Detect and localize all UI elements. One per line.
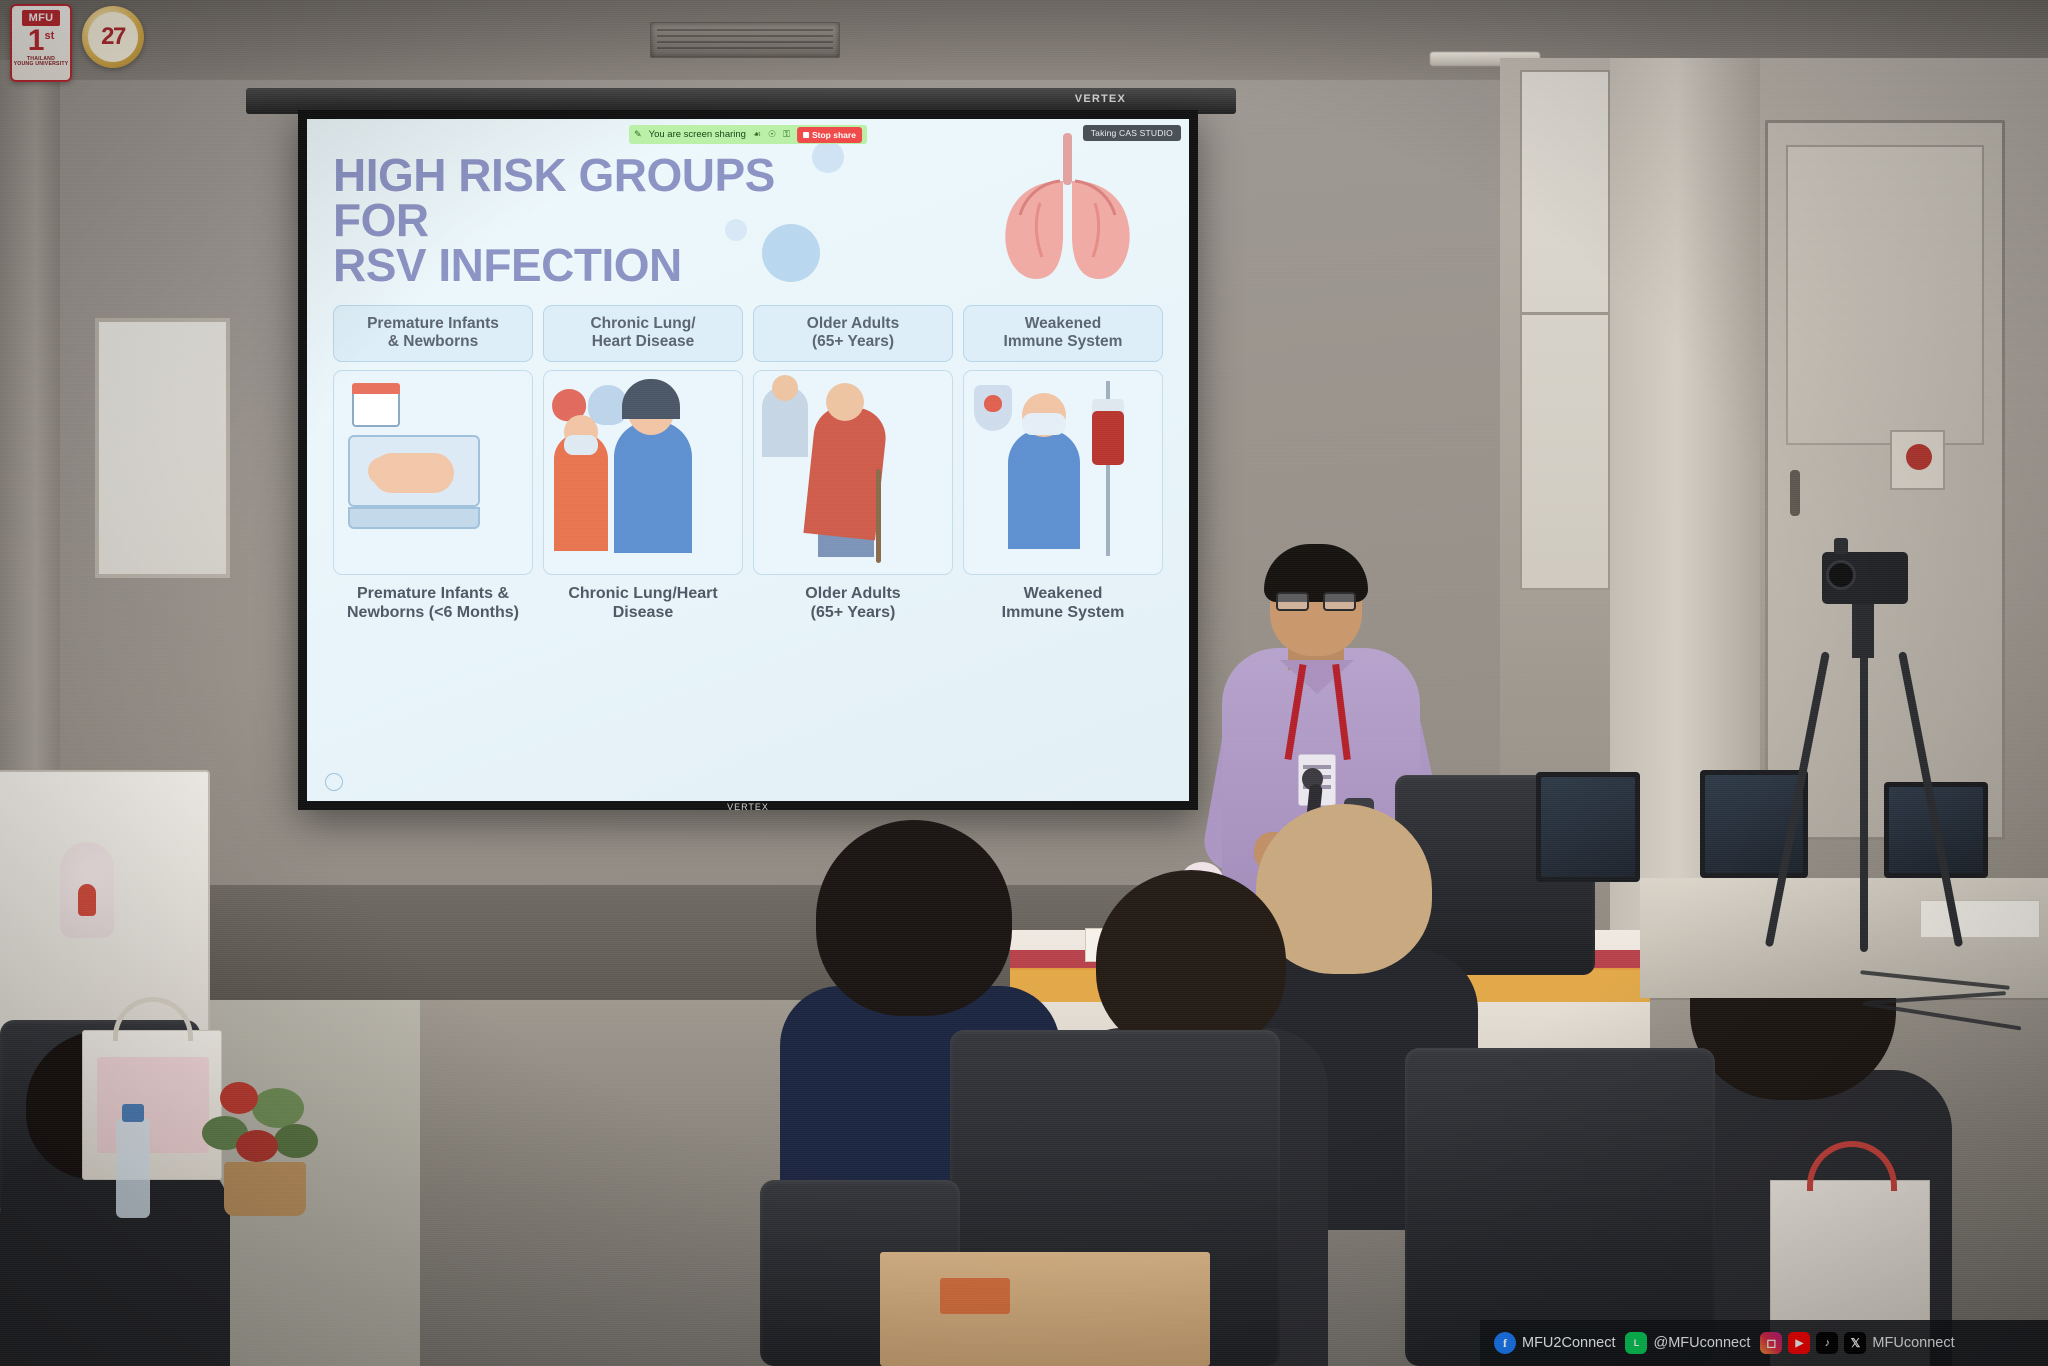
tiktok-icon[interactable]: ♪	[1816, 1332, 1838, 1354]
risk-group-cards: Premature Infants & Newborns Premature I…	[333, 305, 1163, 622]
calendar-header-icon	[352, 383, 400, 394]
annotate-icon[interactable]: ☙	[753, 129, 761, 140]
slide-title-line1: HIGH RISK GROUPS FOR	[333, 153, 833, 243]
anniversary-badge-number: 27	[88, 12, 138, 62]
social-footer-bar: f MFU2Connect L @MFUconnect ◻ ▶ ♪ 𝕏 MFUc…	[1480, 1320, 2048, 1366]
leaf	[274, 1124, 318, 1158]
adult-hair-icon	[622, 379, 680, 419]
card-illustration-older-adults	[753, 370, 953, 575]
potted-plant	[200, 1076, 330, 1216]
chair	[1405, 1048, 1715, 1366]
facebook-handle: MFU2Connect	[1522, 1335, 1615, 1351]
mfu-logo-rank: 1st	[28, 27, 54, 56]
flower	[236, 1130, 278, 1162]
instagram-icon[interactable]: ◻	[1760, 1332, 1782, 1354]
elderly-background-head-icon	[772, 375, 798, 401]
card-illustration-premature-infants	[333, 370, 533, 575]
right-window	[1520, 70, 1610, 590]
card-header: Weakened Immune System	[963, 305, 1163, 362]
sign-emblem	[1906, 444, 1932, 470]
wooden-desk	[880, 1252, 1210, 1366]
iv-blood-bag-icon	[1092, 411, 1124, 465]
social-handles-item[interactable]: ◻ ▶ ♪ 𝕏 MFUconnect	[1760, 1332, 1954, 1354]
wall-sign	[1890, 430, 1945, 490]
incubator-base-icon	[348, 507, 480, 529]
slide-title: HIGH RISK GROUPS FOR RSV INFECTION	[333, 153, 833, 288]
card-header: Chronic Lung/ Heart Disease	[543, 305, 743, 362]
card-header: Older Adults (65+ Years)	[753, 305, 953, 362]
audio-icon[interactable]: ☉	[768, 129, 776, 140]
x-icon[interactable]: 𝕏	[1844, 1332, 1866, 1354]
slide-content: HIGH RISK GROUPS FOR RSV INFECTION	[307, 119, 1189, 801]
leaf	[252, 1088, 304, 1128]
virus-particle-icon	[762, 224, 820, 282]
security-icon[interactable]: ⚿	[783, 129, 790, 140]
slide-watermark: Taking CAS STUDIO	[1083, 125, 1181, 141]
mfu-logo: MFU 1st THAILAND YOUNG UNIVERSITY	[10, 4, 72, 82]
lungs-illustration	[980, 129, 1155, 289]
stop-share-label: Stop share	[812, 130, 856, 140]
water-bottle	[116, 1118, 150, 1218]
ceiling-vent	[650, 22, 840, 58]
patient-body-icon	[1008, 429, 1080, 549]
left-pillar	[0, 60, 60, 800]
face-mask-icon	[1022, 413, 1066, 435]
risk-card: Chronic Lung/ Heart Disease Chronic Lung…	[543, 305, 743, 622]
door-handle[interactable]	[1790, 470, 1800, 516]
camera-lens-icon	[1826, 560, 1856, 590]
card-caption: Chronic Lung/Heart Disease	[568, 584, 717, 622]
card-caption: Weakened Immune System	[1002, 584, 1125, 622]
whiteboard-left	[95, 318, 230, 578]
monitor	[1536, 772, 1640, 882]
stop-share-button[interactable]: Stop share	[797, 127, 862, 143]
baby-head-icon	[368, 457, 396, 485]
card-illustration-weakened-immune	[963, 370, 1163, 575]
risk-card: Older Adults (65+ Years) Older Adults (6…	[753, 305, 953, 622]
slide-corner-logo-icon	[325, 773, 343, 791]
desk-sign	[1920, 900, 2040, 938]
facebook-handle-item[interactable]: f MFU2Connect	[1494, 1332, 1615, 1354]
desk-object	[940, 1278, 1010, 1314]
projection-screen-frame: ✎ You are screen sharing ☙ ☉ ⚿ Stop shar…	[298, 110, 1198, 810]
line-handle: @MFUconnect	[1653, 1335, 1750, 1351]
risk-card: Premature Infants & Newborns Premature I…	[333, 305, 533, 622]
camera-tripod	[1800, 552, 1930, 972]
camera-shotgun-mic	[1834, 538, 1848, 554]
shield-heart-icon	[984, 395, 1002, 412]
walking-cane-icon	[876, 469, 881, 563]
anniversary-badge: 27	[82, 6, 144, 68]
social-handle: MFUconnect	[1872, 1335, 1954, 1351]
lectern-emblem	[32, 832, 142, 962]
video-camera	[1822, 552, 1908, 604]
cable-bundle	[1860, 970, 2040, 1040]
oxygen-mask-icon	[564, 435, 598, 455]
line-handle-item[interactable]: L @MFUconnect	[1625, 1332, 1750, 1354]
flower	[220, 1082, 258, 1114]
projector-brand-bottom: VERTEX	[727, 802, 769, 812]
card-header: Premature Infants & Newborns	[333, 305, 533, 362]
mfu-rank-suffix: st	[44, 30, 54, 42]
pencil-icon[interactable]: ✎	[634, 129, 642, 140]
risk-card: Weakened Immune System Weakened Immune S…	[963, 305, 1163, 622]
stop-square-icon	[803, 132, 809, 138]
card-caption: Older Adults (65+ Years)	[805, 584, 900, 622]
elderly-head-icon	[826, 383, 864, 421]
virus-particle-icon	[725, 219, 747, 241]
line-icon[interactable]: L	[1625, 1332, 1647, 1354]
virus-particle-icon	[812, 141, 844, 173]
seal-flame-icon	[78, 884, 96, 916]
screenshot-root: VERTEX ✎ You are screen sharing ☙ ☉ ⚿ St…	[0, 0, 2048, 1366]
share-status-text: You are screen sharing	[649, 129, 746, 140]
mfu-logo-subtitle: THAILAND YOUNG UNIVERSITY	[14, 57, 69, 69]
bag-graphic	[97, 1057, 209, 1153]
bottle-cap	[122, 1104, 144, 1122]
eyeglasses-icon	[1276, 592, 1356, 612]
tripod-leg	[1860, 652, 1868, 952]
mfu-rank-number: 1	[28, 24, 45, 57]
youtube-icon[interactable]: ▶	[1788, 1332, 1810, 1354]
adult-body-icon	[614, 421, 692, 553]
door-panel	[1786, 145, 1984, 445]
tripod-head	[1852, 604, 1874, 658]
plant-pot	[224, 1162, 306, 1216]
card-caption: Premature Infants & Newborns (<6 Months)	[347, 584, 519, 622]
projector-brand-top: VERTEX	[1075, 93, 1126, 105]
zoom-screen-share-bar[interactable]: ✎ You are screen sharing ☙ ☉ ⚿ Stop shar…	[629, 125, 867, 144]
projection-screen: ✎ You are screen sharing ☙ ☉ ⚿ Stop shar…	[307, 119, 1189, 801]
slide-title-line2: RSV INFECTION	[333, 243, 833, 288]
facebook-icon[interactable]: f	[1494, 1332, 1516, 1354]
card-illustration-chronic-lung-heart	[543, 370, 743, 575]
